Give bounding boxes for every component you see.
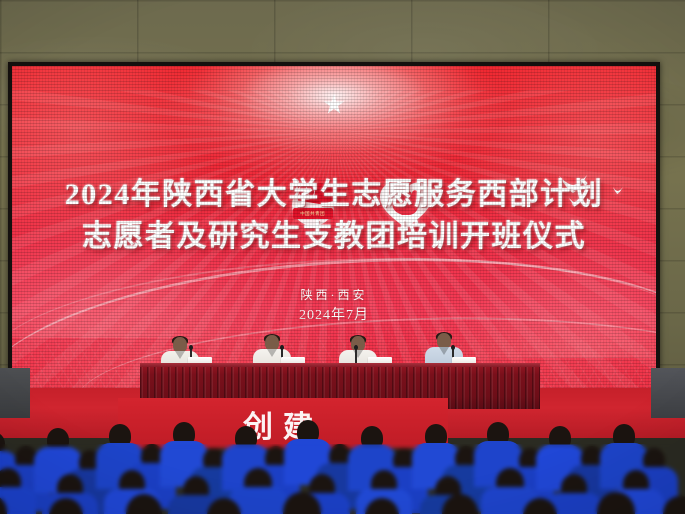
audience-crowd	[0, 398, 685, 514]
subtitle-place: 陕西·西安	[12, 285, 656, 305]
led-screen: 中国共青团	[12, 66, 656, 398]
ceremony-photo: 中国共青团	[0, 0, 685, 514]
center-star-icon	[323, 94, 345, 115]
led-screen-frame: 中国共青团	[8, 62, 660, 402]
subtitle-date: 2024年7月	[12, 305, 656, 327]
screen-subtitle: 陕西·西安 2024年7月	[12, 285, 656, 327]
screen-headline: 2024年陕西省大学生志愿服务西部计划 志愿者及研究生支教团培训开班仪式	[12, 174, 656, 258]
microphone-3	[355, 348, 357, 364]
headline-line-2: 志愿者及研究生支教团培训开班仪式	[12, 216, 656, 258]
headline-line-1: 2024年陕西省大学生志愿服务西部计划	[12, 174, 656, 216]
